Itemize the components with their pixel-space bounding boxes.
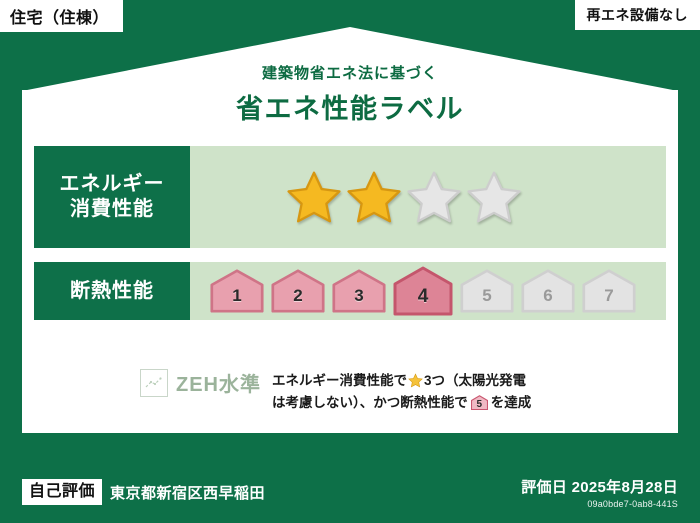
zeh-mark-icon: [140, 369, 168, 397]
mini-star-icon: [408, 373, 423, 388]
mini-level-badge-number: 5: [471, 400, 488, 410]
insulation-level-number: 4: [418, 286, 429, 316]
desc-star-count: 3つ（太陽光発電: [424, 373, 526, 388]
star-filled-icon: [286, 169, 342, 225]
star-empty-icon: [466, 169, 522, 225]
insulation-level-panel: 1234567: [190, 262, 666, 320]
insulation-level-badge-5: 5: [460, 269, 514, 313]
energy-performance-label-cell: エネルギー 消費性能: [34, 146, 190, 248]
desc-part2: は考慮しない）、かつ断熱性能で: [272, 395, 468, 410]
energy-label-line1: エネルギー: [60, 172, 165, 197]
renewable-energy-tag: 再エネ設備なし: [575, 0, 700, 30]
title-main: 省エネ性能ラベル: [0, 87, 700, 126]
star-empty-icon: [406, 169, 462, 225]
zeh-standard-label: ZEH水準: [176, 368, 261, 397]
footer-right: 評価日 2025年8月28日 09a0bde7-0ab8-441S: [521, 476, 678, 509]
desc-part1: エネルギー消費性能で: [272, 373, 407, 388]
insulation-level-badge-7: 7: [582, 269, 636, 313]
insulation-level-badge-2: 2: [271, 269, 325, 313]
insulation-level-number: 1: [232, 286, 241, 313]
insulation-level-badge-3: 3: [332, 269, 386, 313]
self-evaluation-badge: 自己評価: [22, 479, 102, 505]
insulation-performance-row: 断熱性能 1234567: [34, 262, 666, 320]
insulation-level-number: 2: [293, 286, 302, 313]
achievement-description: エネルギー消費性能で3つ（太陽光発電 は考慮しない）、かつ断熱性能で5を達成: [272, 370, 572, 415]
zeh-standard-block: ZEH水準: [140, 368, 261, 397]
building-type-tag: 住宅（住棟）: [0, 0, 123, 32]
mini-level-badge: 5: [471, 395, 488, 410]
property-address: 東京都新宿区西早稲田: [110, 482, 265, 503]
energy-performance-row: エネルギー 消費性能: [34, 146, 666, 248]
insulation-performance-label-cell: 断熱性能: [34, 262, 190, 320]
energy-performance-label: 住宅（住棟） 再エネ設備なし 建築物省エネ法に基づく 省エネ性能ラベル エネルギ…: [0, 0, 700, 523]
star-filled-icon: [346, 169, 402, 225]
title-subtitle: 建築物省エネ法に基づく: [0, 62, 700, 83]
label-title: 建築物省エネ法に基づく 省エネ性能ラベル: [0, 62, 700, 126]
evaluation-date: 評価日 2025年8月28日: [521, 476, 678, 497]
energy-label-line2: 消費性能: [70, 197, 154, 222]
insulation-level-number: 7: [604, 286, 613, 313]
desc-part3: を達成: [491, 395, 532, 410]
insulation-level-number: 3: [354, 286, 363, 313]
insulation-level-badge-1: 1: [210, 269, 264, 313]
insulation-level-badge-4: 4: [393, 266, 453, 316]
insulation-level-badge-6: 6: [521, 269, 575, 313]
insulation-level-number: 5: [482, 286, 491, 313]
star-rating-panel: [190, 146, 666, 248]
footer-left: 自己評価 東京都新宿区西早稲田: [22, 479, 265, 505]
insulation-level-number: 6: [543, 286, 552, 313]
evaluation-id: 09a0bde7-0ab8-441S: [521, 499, 678, 509]
insulation-label: 断熱性能: [70, 279, 154, 304]
